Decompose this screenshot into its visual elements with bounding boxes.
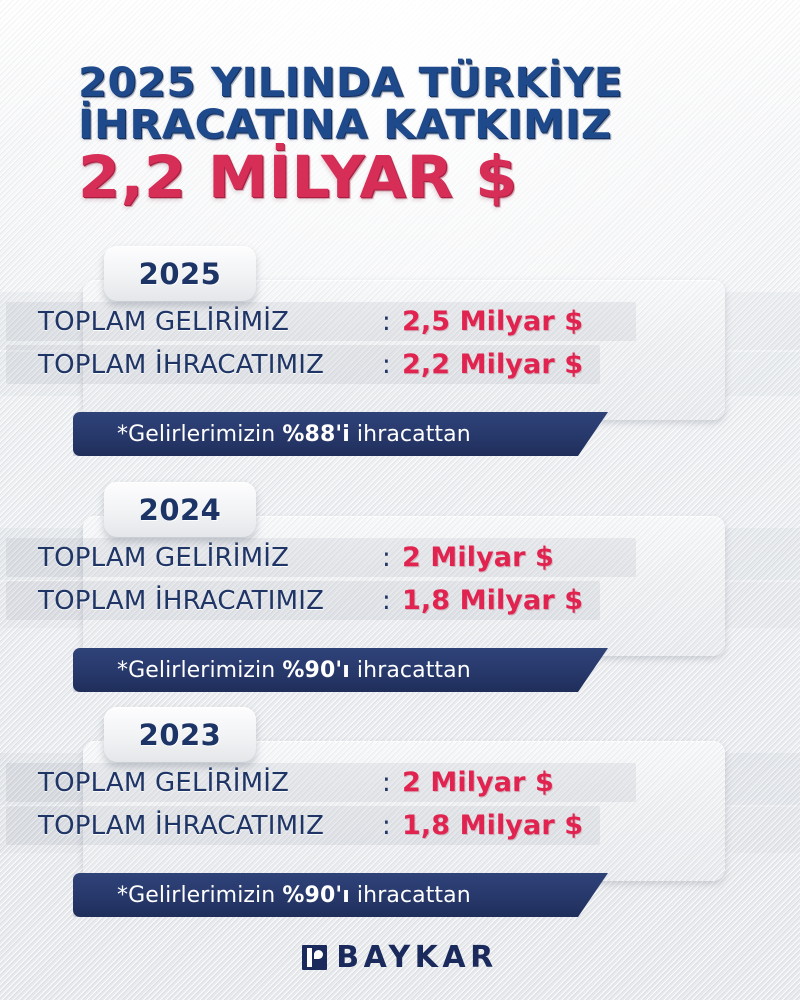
headline-amount: 2,2 MİLYAR $ xyxy=(78,149,764,206)
year-card-2023: 2023 TOPLAM GELİRİMİZ : 2 Milyar $ TOPLA… xyxy=(0,707,800,919)
footnote-text: *Gelirlerimizin %90'ı ihracattan xyxy=(73,883,471,908)
row-value: 2,2 Milyar $ xyxy=(402,349,583,380)
footnote-suffix: ihracattan xyxy=(350,883,471,908)
table-row: TOPLAM GELİRİMİZ : 2,5 Milyar $ xyxy=(0,300,642,343)
row-separator: : xyxy=(382,811,391,841)
year-label: 2024 xyxy=(139,493,222,527)
baykar-logo: BAYKAR xyxy=(0,940,800,975)
row-value: 2 Milyar $ xyxy=(402,542,554,573)
year-card-2025: 2025 TOPLAM GELİRİMİZ : 2,5 Milyar $ TOP… xyxy=(0,246,800,458)
footnote-percent: %90'ı xyxy=(282,658,349,683)
footnote-banner: *Gelirlerimizin %90'ı ihracattan xyxy=(73,873,608,917)
footnote-percent: %88'i xyxy=(282,422,349,447)
year-tab[interactable]: 2024 xyxy=(104,482,256,538)
year-tab[interactable]: 2025 xyxy=(104,246,256,302)
row-separator: : xyxy=(382,350,391,380)
card-rows: TOPLAM GELİRİMİZ : 2 Milyar $ TOPLAM İHR… xyxy=(0,536,642,622)
row-label: TOPLAM GELİRİMİZ xyxy=(38,543,289,573)
footnote-text: *Gelirlerimizin %90'ı ihracattan xyxy=(73,658,471,683)
year-tab[interactable]: 2023 xyxy=(104,707,256,763)
year-label: 2023 xyxy=(139,718,222,752)
table-row: TOPLAM GELİRİMİZ : 2 Milyar $ xyxy=(0,761,642,804)
row-value: 1,8 Milyar $ xyxy=(402,810,583,841)
footnote-text: *Gelirlerimizin %88'i ihracattan xyxy=(73,422,471,447)
footnote-banner: *Gelirlerimizin %88'i ihracattan xyxy=(73,412,608,456)
table-row: TOPLAM İHRACATIMIZ : 1,8 Milyar $ xyxy=(0,804,642,847)
table-row: TOPLAM GELİRİMİZ : 2 Milyar $ xyxy=(0,536,642,579)
baykar-mark-icon xyxy=(302,945,327,970)
table-row: TOPLAM İHRACATIMIZ : 1,8 Milyar $ xyxy=(0,579,642,622)
row-separator: : xyxy=(382,586,391,616)
footnote-percent: %90'ı xyxy=(282,883,349,908)
row-value: 1,8 Milyar $ xyxy=(402,585,583,616)
infographic-poster: 2025 YILINDA TÜRKİYE İHRACATINA KATKIMIZ… xyxy=(0,0,800,1000)
row-value: 2 Milyar $ xyxy=(402,767,554,798)
card-rows: TOPLAM GELİRİMİZ : 2,5 Milyar $ TOPLAM İ… xyxy=(0,300,642,386)
row-label: TOPLAM İHRACATIMIZ xyxy=(38,811,324,841)
row-value: 2,5 Milyar $ xyxy=(402,306,583,337)
row-separator: : xyxy=(382,768,391,798)
footnote-prefix: *Gelirlerimizin xyxy=(117,422,282,447)
row-separator: : xyxy=(382,543,391,573)
baykar-wordmark: BAYKAR xyxy=(336,940,498,975)
row-label: TOPLAM İHRACATIMIZ xyxy=(38,586,324,616)
table-row: TOPLAM İHRACATIMIZ : 2,2 Milyar $ xyxy=(0,343,642,386)
footnote-banner: *Gelirlerimizin %90'ı ihracattan xyxy=(73,648,608,692)
headline-line-1: 2025 YILINDA TÜRKİYE xyxy=(78,64,764,103)
footnote-prefix: *Gelirlerimizin xyxy=(117,658,282,683)
page-title: 2025 YILINDA TÜRKİYE İHRACATINA KATKIMIZ… xyxy=(78,64,738,206)
row-label: TOPLAM GELİRİMİZ xyxy=(38,307,289,337)
footnote-prefix: *Gelirlerimizin xyxy=(117,883,282,908)
row-label: TOPLAM GELİRİMİZ xyxy=(38,768,289,798)
row-separator: : xyxy=(382,307,391,337)
footnote-suffix: ihracattan xyxy=(350,658,471,683)
footnote-suffix: ihracattan xyxy=(350,422,471,447)
card-rows: TOPLAM GELİRİMİZ : 2 Milyar $ TOPLAM İHR… xyxy=(0,761,642,847)
row-label: TOPLAM İHRACATIMIZ xyxy=(38,350,324,380)
year-label: 2025 xyxy=(139,257,222,291)
year-card-2024: 2024 TOPLAM GELİRİMİZ : 2 Milyar $ TOPLA… xyxy=(0,482,800,694)
headline-line-2: İHRACATINA KATKIMIZ xyxy=(78,106,764,145)
